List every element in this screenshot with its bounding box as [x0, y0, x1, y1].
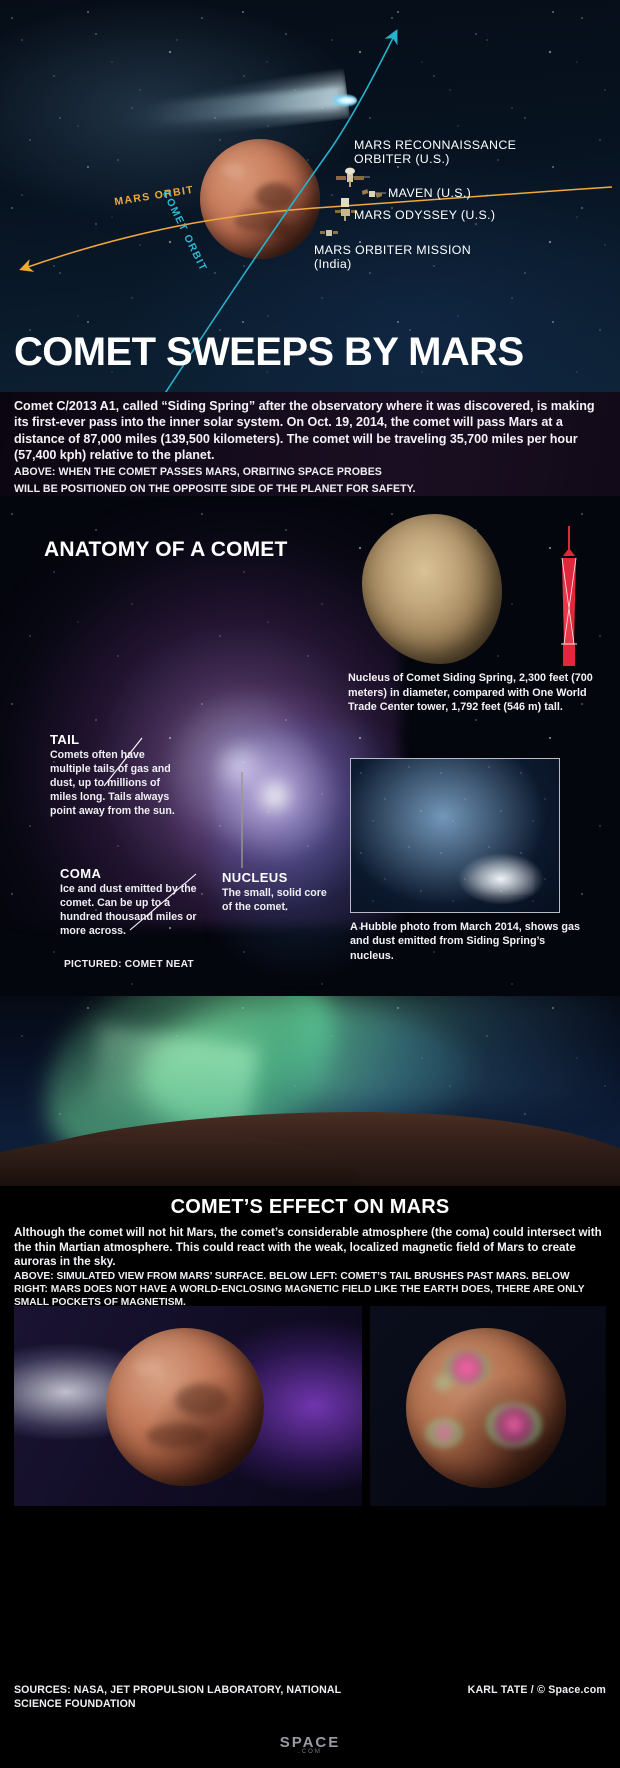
probe-label-maven: MAVEN (U.S.)	[388, 186, 471, 200]
nucleus-caption: Nucleus of Comet Siding Spring, 2,300 fe…	[348, 671, 603, 715]
intro-caption-line2: WILL BE POSITIONED ON THE OPPOSITE SIDE …	[14, 483, 606, 496]
annotation-nucleus: NUCLEUS The small, solid core of the com…	[222, 870, 332, 914]
intro-block: Comet C/2013 A1, called “Siding Spring” …	[0, 392, 620, 496]
annotation-nucleus-body: The small, solid core of the comet.	[222, 886, 332, 914]
aurora-photo	[0, 996, 620, 1186]
annotation-tail-heading: TAIL	[50, 732, 180, 747]
probe-label-mro-line2: ORBITER (U.S.)	[354, 152, 516, 166]
anatomy-section: ANATOMY OF A COMET TAIL Comets often hav…	[0, 496, 620, 996]
pictured-credit: PICTURED: COMET NEAT	[64, 959, 194, 970]
annotation-coma-body: Ice and dust emitted by the comet. Can b…	[60, 882, 200, 938]
probe-label-odyssey: MARS ODYSSEY (U.S.)	[354, 208, 495, 222]
sources-text: SOURCES: NASA, JET PROPULSION LABORATORY…	[14, 1684, 354, 1712]
mars-planet-right	[406, 1328, 566, 1488]
probe-label-mom-line2: (India)	[314, 257, 471, 271]
hubble-caption: A Hubble photo from March 2014, shows ga…	[350, 920, 580, 963]
magnetic-pocket	[430, 1372, 456, 1394]
magnetic-pocket	[424, 1418, 464, 1448]
credit-text: KARL TATE / © Space.com	[468, 1684, 606, 1696]
effect-body: Although the comet will not hit Mars, th…	[14, 1226, 606, 1270]
intro-caption-line1: ABOVE: WHEN THE COMET PASSES MARS, ORBIT…	[14, 466, 606, 479]
probe-label-mro: MARS RECONNAISSANCE ORBITER (U.S.)	[354, 138, 516, 167]
probe-label-mro-line1: MARS RECONNAISSANCE	[354, 138, 516, 152]
annotation-tail: TAIL Comets often have multiple tails of…	[50, 732, 180, 818]
space-com-logo: SPACE .COM	[0, 1734, 620, 1755]
title-band: COMET SWEEPS BY MARS	[0, 330, 620, 392]
effect-section: COMET’S EFFECT ON MARS Although the come…	[0, 1186, 620, 1306]
mars-reconnaissance-orbiter-icon	[336, 167, 364, 189]
magnetic-pocket	[486, 1402, 542, 1448]
maven-orbiter-icon	[362, 186, 382, 202]
hubble-photo	[350, 758, 560, 913]
page-title: COMET SWEEPS BY MARS	[14, 330, 524, 375]
comet-tail-past-mars-image	[14, 1306, 362, 1506]
annotation-coma: COMA Ice and dust emitted by the comet. …	[60, 866, 200, 938]
footer: SOURCES: NASA, JET PROPULSION LABORATORY…	[0, 1676, 620, 1768]
intro-body: Comet C/2013 A1, called “Siding Spring” …	[14, 398, 606, 463]
bottom-images	[0, 1306, 620, 1676]
mars-planet-left	[106, 1328, 264, 1486]
probe-label-mom: MARS ORBITER MISSION (India)	[314, 243, 471, 272]
one-world-trade-center-icon	[557, 526, 581, 666]
logo-subtext: .COM	[0, 1749, 620, 1755]
effect-title: COMET’S EFFECT ON MARS	[14, 1196, 606, 1219]
annotation-nucleus-heading: NUCLEUS	[222, 870, 332, 885]
probe-label-mom-line1: MARS ORBITER MISSION	[314, 243, 471, 257]
annotation-coma-heading: COMA	[60, 866, 200, 881]
effect-caption: ABOVE: SIMULATED VIEW FROM MARS’ SURFACE…	[14, 1270, 606, 1310]
mars-magnetism-image	[370, 1306, 606, 1506]
mars-orbiter-mission-icon	[320, 226, 338, 240]
annotation-tail-body: Comets often have multiple tails of gas …	[50, 748, 180, 818]
